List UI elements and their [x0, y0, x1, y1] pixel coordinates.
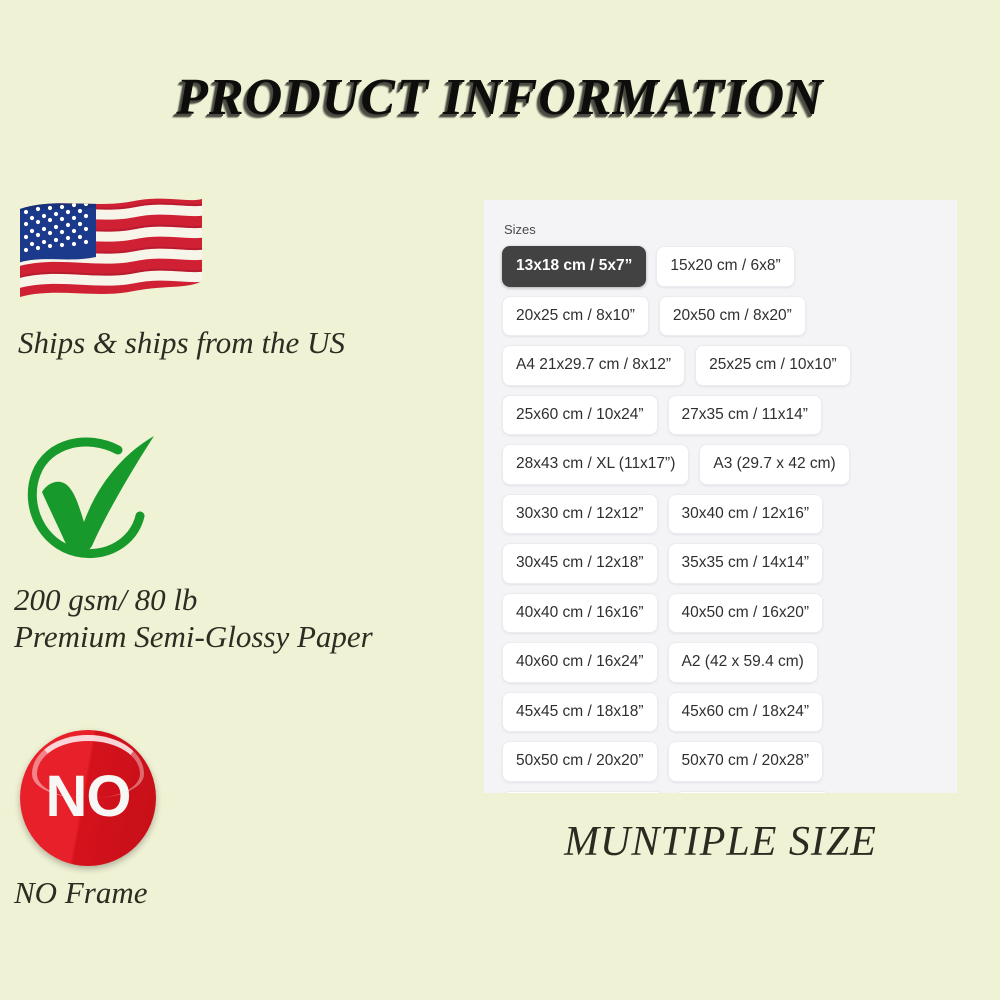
page-title: PRODUCT INFORMATION [0, 68, 1000, 127]
size-option-chip[interactable]: 20x25 cm / 8x10” [502, 296, 649, 337]
size-option-chip[interactable]: A4 21x29.7 cm / 8x12” [502, 345, 685, 386]
size-option-chip[interactable]: 13x18 cm / 5x7” [502, 246, 646, 287]
sizes-label: Sizes [504, 222, 941, 237]
badge-label: NO [20, 763, 156, 830]
size-option-chip[interactable]: 25x25 cm / 10x10” [695, 345, 851, 386]
size-option-chip[interactable]: 30x45 cm / 12x18” [502, 543, 658, 584]
paper-type-line: Premium Semi-Glossy Paper [14, 619, 373, 656]
size-option-chip[interactable]: A3 (29.7 x 42 cm) [699, 444, 849, 485]
size-option-chip[interactable]: 30x40 cm / 12x16” [668, 494, 824, 535]
size-option-chip[interactable]: 60x80 cm / 24x32” [675, 791, 831, 794]
green-check-icon [14, 430, 174, 570]
size-option-chip[interactable]: 27x35 cm / 11x14” [668, 395, 822, 436]
size-option-chip[interactable]: 20x50 cm / 8x20” [659, 296, 806, 337]
size-option-chip[interactable]: 45x60 cm / 18x24” [668, 692, 824, 733]
size-option-chip[interactable]: 30x30 cm / 12x12” [502, 494, 658, 535]
size-option-chip[interactable]: 35x35 cm / 14x14” [668, 543, 824, 584]
size-option-chip[interactable]: 28x43 cm / XL (11x17”) [502, 444, 689, 485]
size-option-chip[interactable]: 50x50 cm / 20x20” [502, 741, 658, 782]
size-option-chip[interactable]: A1 (59.4 x 84.1 cm) [502, 791, 665, 794]
no-badge-icon: NO [20, 730, 156, 866]
size-option-chip[interactable]: 15x20 cm / 6x8” [656, 246, 794, 287]
size-option-chip[interactable]: 45x45 cm / 18x18” [502, 692, 658, 733]
size-option-chip[interactable]: 40x60 cm / 16x24” [502, 642, 658, 683]
size-option-chip[interactable]: 40x50 cm / 16x20” [668, 593, 824, 634]
us-flag-icon [16, 193, 206, 311]
paper-weight-line: 200 gsm/ 80 lb [14, 582, 373, 619]
no-frame-text: NO Frame [14, 875, 147, 912]
size-option-chip[interactable]: 25x60 cm / 10x24” [502, 395, 658, 436]
shipping-text: Ships & ships from the US [18, 325, 345, 362]
sizes-option-list: 13x18 cm / 5x7”15x20 cm / 6x8”20x25 cm /… [502, 246, 941, 793]
multiple-size-caption: MUNTIPLE SIZE [484, 818, 957, 866]
size-option-chip[interactable]: A2 (42 x 59.4 cm) [668, 642, 818, 683]
size-option-chip[interactable]: 40x40 cm / 16x16” [502, 593, 658, 634]
paper-text: 200 gsm/ 80 lb Premium Semi-Glossy Paper [14, 582, 373, 655]
size-option-chip[interactable]: 50x70 cm / 20x28” [668, 741, 824, 782]
sizes-panel: Sizes 13x18 cm / 5x7”15x20 cm / 6x8”20x2… [484, 200, 957, 793]
